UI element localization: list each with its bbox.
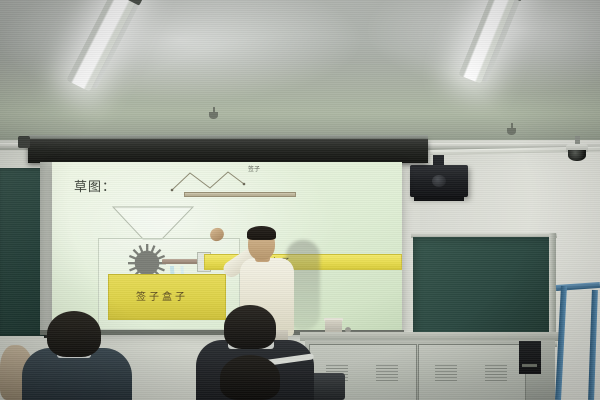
cabinet-black-panel — [519, 341, 541, 374]
blackboard-right-side-frame — [549, 233, 556, 345]
speaker-cone-icon — [432, 175, 446, 187]
slide-horizontal-rod — [184, 192, 296, 197]
slide-label-stick-box: 签子盒子 — [136, 288, 188, 303]
blackboard-right — [413, 237, 555, 343]
funnel-hopper-icon — [112, 206, 194, 240]
cabinet-vent — [485, 365, 507, 381]
slide-drive-shaft — [162, 259, 200, 264]
screen-bracket — [18, 136, 30, 148]
presenter-hair — [247, 226, 276, 240]
chevron-linkage-icon — [170, 170, 246, 192]
cabinet-vent — [435, 365, 457, 381]
classroom-photo: 草图： 签子 — [0, 0, 600, 400]
slide-title: 草图： — [74, 176, 116, 195]
speaker-base — [414, 196, 464, 201]
ceiling-mount-right — [507, 128, 516, 135]
slide-label-stick: 签子 — [248, 164, 260, 173]
projection-screen-case — [28, 139, 428, 163]
cabinet-panel-label — [522, 364, 537, 367]
student-front-left-head — [47, 311, 101, 357]
ceiling-mount-left — [209, 112, 218, 119]
student-silhouette-center — [220, 355, 280, 400]
cabinet-door-right[interactable] — [418, 344, 526, 400]
cabinet-vent — [376, 365, 398, 381]
projection-screen[interactable]: 草图： 签子 — [52, 162, 402, 332]
student-front-center-head — [224, 305, 276, 349]
dome-security-camera-icon — [568, 150, 586, 161]
